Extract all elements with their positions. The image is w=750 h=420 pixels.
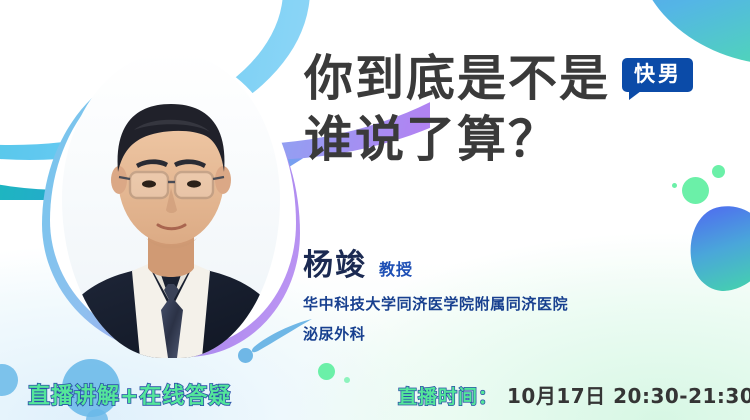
headline-line-2: 谁说了算？ — [304, 113, 734, 168]
presenter-portrait-photo — [62, 52, 280, 358]
presenter-name: 杨竣 — [303, 240, 367, 284]
headline-block: 你到底是不是 快男 谁说了算？ — [304, 52, 734, 168]
green-dot-large-icon — [682, 177, 709, 204]
live-stream-promo-poster: 你到底是不是 快男 谁说了算？ 杨竣 教授 华中科技大学同济医学院附属同济医院 … — [0, 0, 750, 420]
presenter-department: 泌尿外科 — [303, 323, 568, 344]
footer-feature-tag: 直播讲解+在线答疑 — [28, 378, 231, 410]
presenter-hospital: 华中科技大学同济医学院附属同济医院 — [303, 293, 568, 314]
headline-line-1: 你到底是不是 — [304, 52, 610, 107]
presenter-name-row: 杨竣 教授 — [303, 240, 568, 284]
green-dot-tiny-icon — [344, 377, 350, 383]
headline-badge: 快男 — [622, 58, 693, 92]
footer-time-label: 直播时间： — [398, 382, 498, 409]
footer-time-value: 10月17日 20:30-21:30 — [507, 380, 750, 409]
footer-schedule-block: 直播时间： 10月17日 20:30-21:30 — [398, 380, 750, 409]
green-dot-small-icon — [672, 183, 677, 188]
presenter-academic-title: 教授 — [379, 256, 413, 280]
headline-line-1-row: 你到底是不是 快男 — [304, 52, 734, 107]
green-dot-lower-icon — [318, 363, 335, 380]
presenter-info-block: 杨竣 教授 华中科技大学同济医学院附属同济医院 泌尿外科 — [303, 240, 568, 344]
